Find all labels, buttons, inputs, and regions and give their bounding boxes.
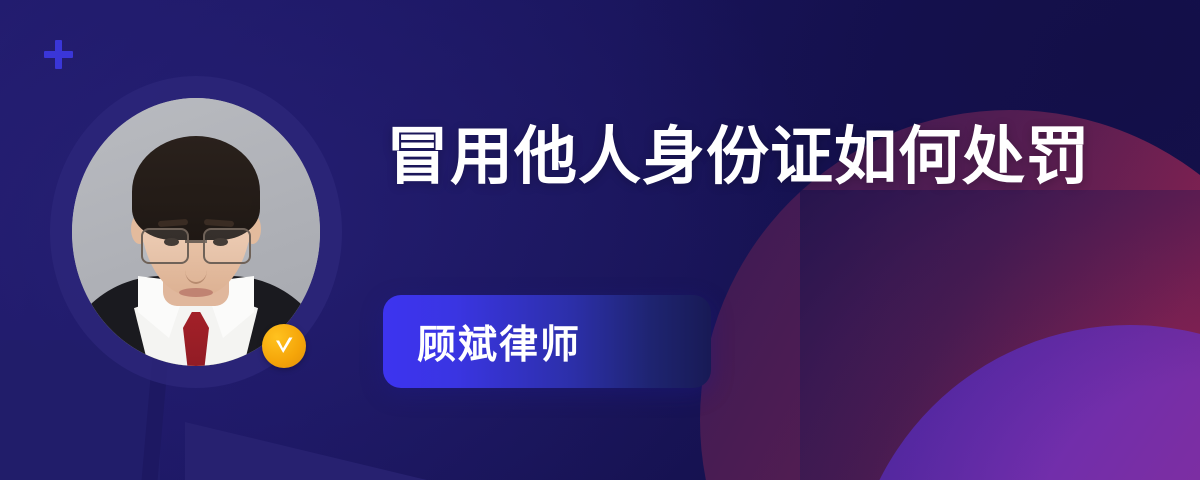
legal-qa-banner: 冒用他人身份证如何处罚 顾斌律师	[0, 0, 1200, 480]
portrait-hair	[132, 136, 260, 240]
glasses-lens-left	[141, 228, 189, 264]
verified-badge-icon	[262, 324, 306, 368]
lawyer-name-button[interactable]: 顾斌律师	[383, 295, 711, 388]
portrait-nose	[185, 256, 207, 284]
glasses-lens-right	[203, 228, 251, 264]
text-content: 冒用他人身份证如何处罚 顾斌律师	[386, 0, 1106, 480]
avatar	[50, 76, 342, 388]
page-title: 冒用他人身份证如何处罚	[386, 122, 1090, 193]
plus-icon	[44, 40, 73, 69]
portrait-mouth	[179, 288, 213, 297]
